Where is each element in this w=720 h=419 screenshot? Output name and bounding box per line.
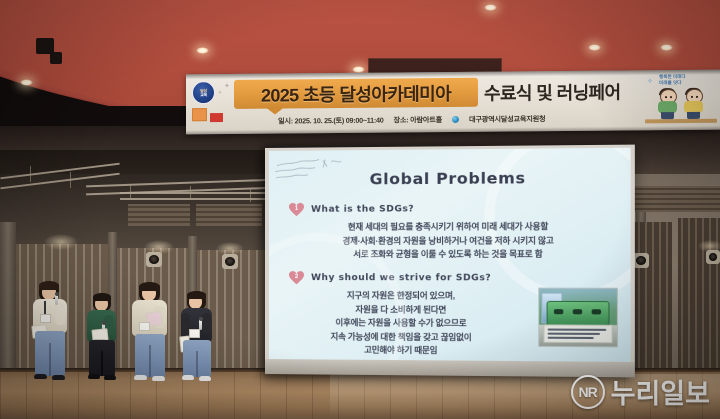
person-hair-front: [93, 293, 111, 301]
wall-light-wash: [144, 240, 174, 254]
photo-collection-bin: [547, 301, 610, 326]
wall-pilaster: [0, 222, 16, 372]
nuri-ilbo-logo-icon: NR: [571, 375, 605, 409]
student-presenter-2: [84, 293, 122, 381]
photo-bin-slot: [573, 309, 582, 314]
heart-bullet-icon: 1: [289, 203, 304, 217]
slide-question-2: Why should we strive for SDGs?: [311, 273, 491, 283]
slide-body-line: 자원을 다 소비하게 된다면: [297, 303, 506, 318]
photo-bin-slot: [554, 309, 563, 314]
mascot-eye: [665, 96, 667, 98]
slide-body-line: 지구의 자원은 한정되어 있으며,: [297, 289, 506, 303]
banner-datetime: 일시: 2025. 10. 25.(토) 09:00~11:40: [278, 115, 384, 126]
slide-section-2-body: 지구의 자원은 한정되어 있으며, 자원을 다 소비하게 된다면 이후에는 자원…: [297, 289, 506, 359]
slide-body-line: 서로 조화와 균형을 이룰 수 있도록 하는 것을 목표로 함: [289, 248, 610, 262]
person-shoe: [88, 374, 100, 379]
person-arm: [55, 303, 65, 325]
slide-body-line: 고민해야 하기 때문임: [297, 344, 506, 359]
student-presenter-3: [129, 282, 173, 381]
wall-speaker: [146, 252, 162, 267]
person-leg-gap: [101, 351, 103, 376]
watermark: NR 누리일보: [571, 372, 710, 411]
watermark-logo-text: NR: [579, 384, 597, 400]
mascot-bench: [645, 119, 717, 124]
heart-bullet-number: 1: [295, 206, 298, 212]
projection-screen: Global Problems 1 What is the SDGs? 현재 세…: [265, 145, 635, 378]
dalseong-education-emblem-icon: 달성 교육: [192, 81, 215, 104]
slide-body-line: 이후에는 자원을 사용할 수가 없으므로: [297, 316, 506, 331]
person-leg-gap: [49, 343, 51, 376]
person-hair-front: [187, 291, 206, 299]
ceiling-downlight: [484, 4, 497, 11]
ceiling-downlight: [196, 47, 209, 54]
watermark-text: 누리일보: [611, 372, 710, 411]
banner-organizer: 대구광역시달성교육지원청: [469, 114, 545, 125]
name-badge: [139, 322, 150, 331]
presentation-slide: Global Problems 1 What is the SDGs? 현재 세…: [269, 148, 631, 362]
wall-speaker: [706, 250, 720, 264]
person-shoe: [199, 376, 211, 381]
mascot-legs: [687, 112, 700, 119]
balcony-rail-post: [190, 186, 191, 200]
photo-bin-slot: [592, 309, 601, 314]
star-icon: ✧: [647, 77, 653, 85]
balcony-rail-post: [130, 184, 131, 198]
slide-section-1-body: 현재 세대의 필요를 충족시키기 위하여 미래 세대가 사용할 경제·사회·환경…: [289, 220, 610, 262]
banner-title-rest: 수료식 및 러닝페어: [484, 79, 620, 106]
banner-title-highlight: 2025 초등 달성아카데미아: [261, 80, 451, 108]
heart-bullet-icon: 2: [289, 271, 304, 285]
wall-louver-grille: [196, 204, 262, 226]
mascot-eye: [670, 96, 672, 98]
mascot-child-2: [683, 89, 704, 119]
name-badge: [40, 314, 51, 323]
person-shoe: [182, 375, 194, 380]
banner-place: 장소: 아람아트홀: [394, 115, 442, 125]
person-arm: [202, 313, 211, 333]
slide-section-1: 1 What is the SDGs? 현재 세대의 필요를 충족시키기 위하여…: [289, 201, 610, 261]
sparkle-icon: ✦: [224, 82, 230, 90]
heart-bullet-number: 2: [295, 274, 298, 280]
balcony-rail-post: [30, 166, 31, 182]
slide-body-line: 경제·사회·환경의 자원을 낭비하거나 여건을 저하 시키지 않고: [289, 234, 610, 248]
screenshot-scene: 달성 교육 ✦ ✦ 2025 초등 달성아카데미아 수료식 및 러닝페어 일시:…: [0, 0, 720, 419]
wall-louver-grille: [620, 186, 720, 212]
person-hair-front: [139, 282, 160, 291]
person-shoe: [34, 374, 47, 379]
photo-sign: [543, 324, 612, 343]
banner-title-bubble: 2025 초등 달성아카데미아: [234, 78, 478, 109]
slide-photo-recycling-station: [538, 288, 618, 348]
person-hair-front: [39, 281, 59, 290]
banner-mascot-group: ✧ 행복한 미래다 미래를 잇다: [645, 73, 717, 128]
ceiling-downlight: [20, 79, 33, 86]
name-badge: [189, 329, 200, 338]
sparkle-icon: ✦: [218, 90, 222, 96]
wall-speaker: [222, 254, 238, 269]
mascot-child-1: [657, 89, 678, 119]
person-lanyard: [44, 301, 46, 315]
balcony-rail-post: [70, 172, 71, 188]
microphone-icon: [55, 294, 58, 305]
banner-info-line: 일시: 2025. 10. 25.(토) 09:00~11:40 장소: 아람아…: [278, 111, 628, 127]
ceiling-downlight: [588, 44, 601, 51]
slide-body-line: 현재 세대의 필요를 충족시키기 위하여 미래 세대가 사용할: [289, 220, 610, 235]
person-shoe: [134, 375, 147, 380]
slide-body-line: 지속 가능성에 대한 책임을 갖고 끊임없이: [297, 330, 506, 345]
wall-light-wash: [698, 240, 720, 252]
student-presenter-1: [28, 281, 74, 381]
banner-orange-square-decor: [192, 108, 207, 121]
mascot-eye: [696, 96, 698, 98]
balcony-rail-post: [250, 188, 251, 202]
ceiling-spotlight-rig-2: [50, 52, 62, 64]
mascot-slogan: 행복한 미래다 미래를 잇다: [659, 74, 686, 87]
person-shoe: [52, 375, 65, 380]
wall-speaker: [633, 253, 649, 268]
mascot-eye: [691, 96, 693, 98]
slide-question-1: What is the SDGs?: [311, 204, 414, 215]
ceiling-downlight: [660, 44, 673, 51]
slide-section-1-header: 1 What is the SDGs?: [289, 201, 610, 217]
balcony-rail: [120, 192, 280, 194]
emblem-line-2: 교육: [200, 93, 207, 97]
person-shoe: [104, 375, 116, 380]
event-banner: 달성 교육 ✦ ✦ 2025 초등 달성아카데미아 수료식 및 러닝페어 일시:…: [186, 70, 720, 135]
mascot-slogan-line-2: 미래를 잇다: [659, 80, 686, 86]
globe-icon: [452, 116, 459, 123]
person-shoe: [152, 376, 165, 381]
person-leg-gap: [149, 345, 151, 377]
slide-title: Global Problems: [269, 168, 631, 189]
wall-louver-grille: [128, 204, 190, 226]
balcony-rail: [120, 198, 280, 200]
student-presenter-4: [177, 291, 218, 381]
wall-light-wash: [44, 234, 78, 250]
person-leg-gap: [196, 351, 198, 377]
banner-red-square-decor: [210, 113, 223, 122]
wall-light-wash: [216, 242, 244, 255]
mascot-legs: [661, 112, 674, 119]
slide-section-2-header: 2 Why should we strive for SDGs?: [289, 271, 610, 286]
